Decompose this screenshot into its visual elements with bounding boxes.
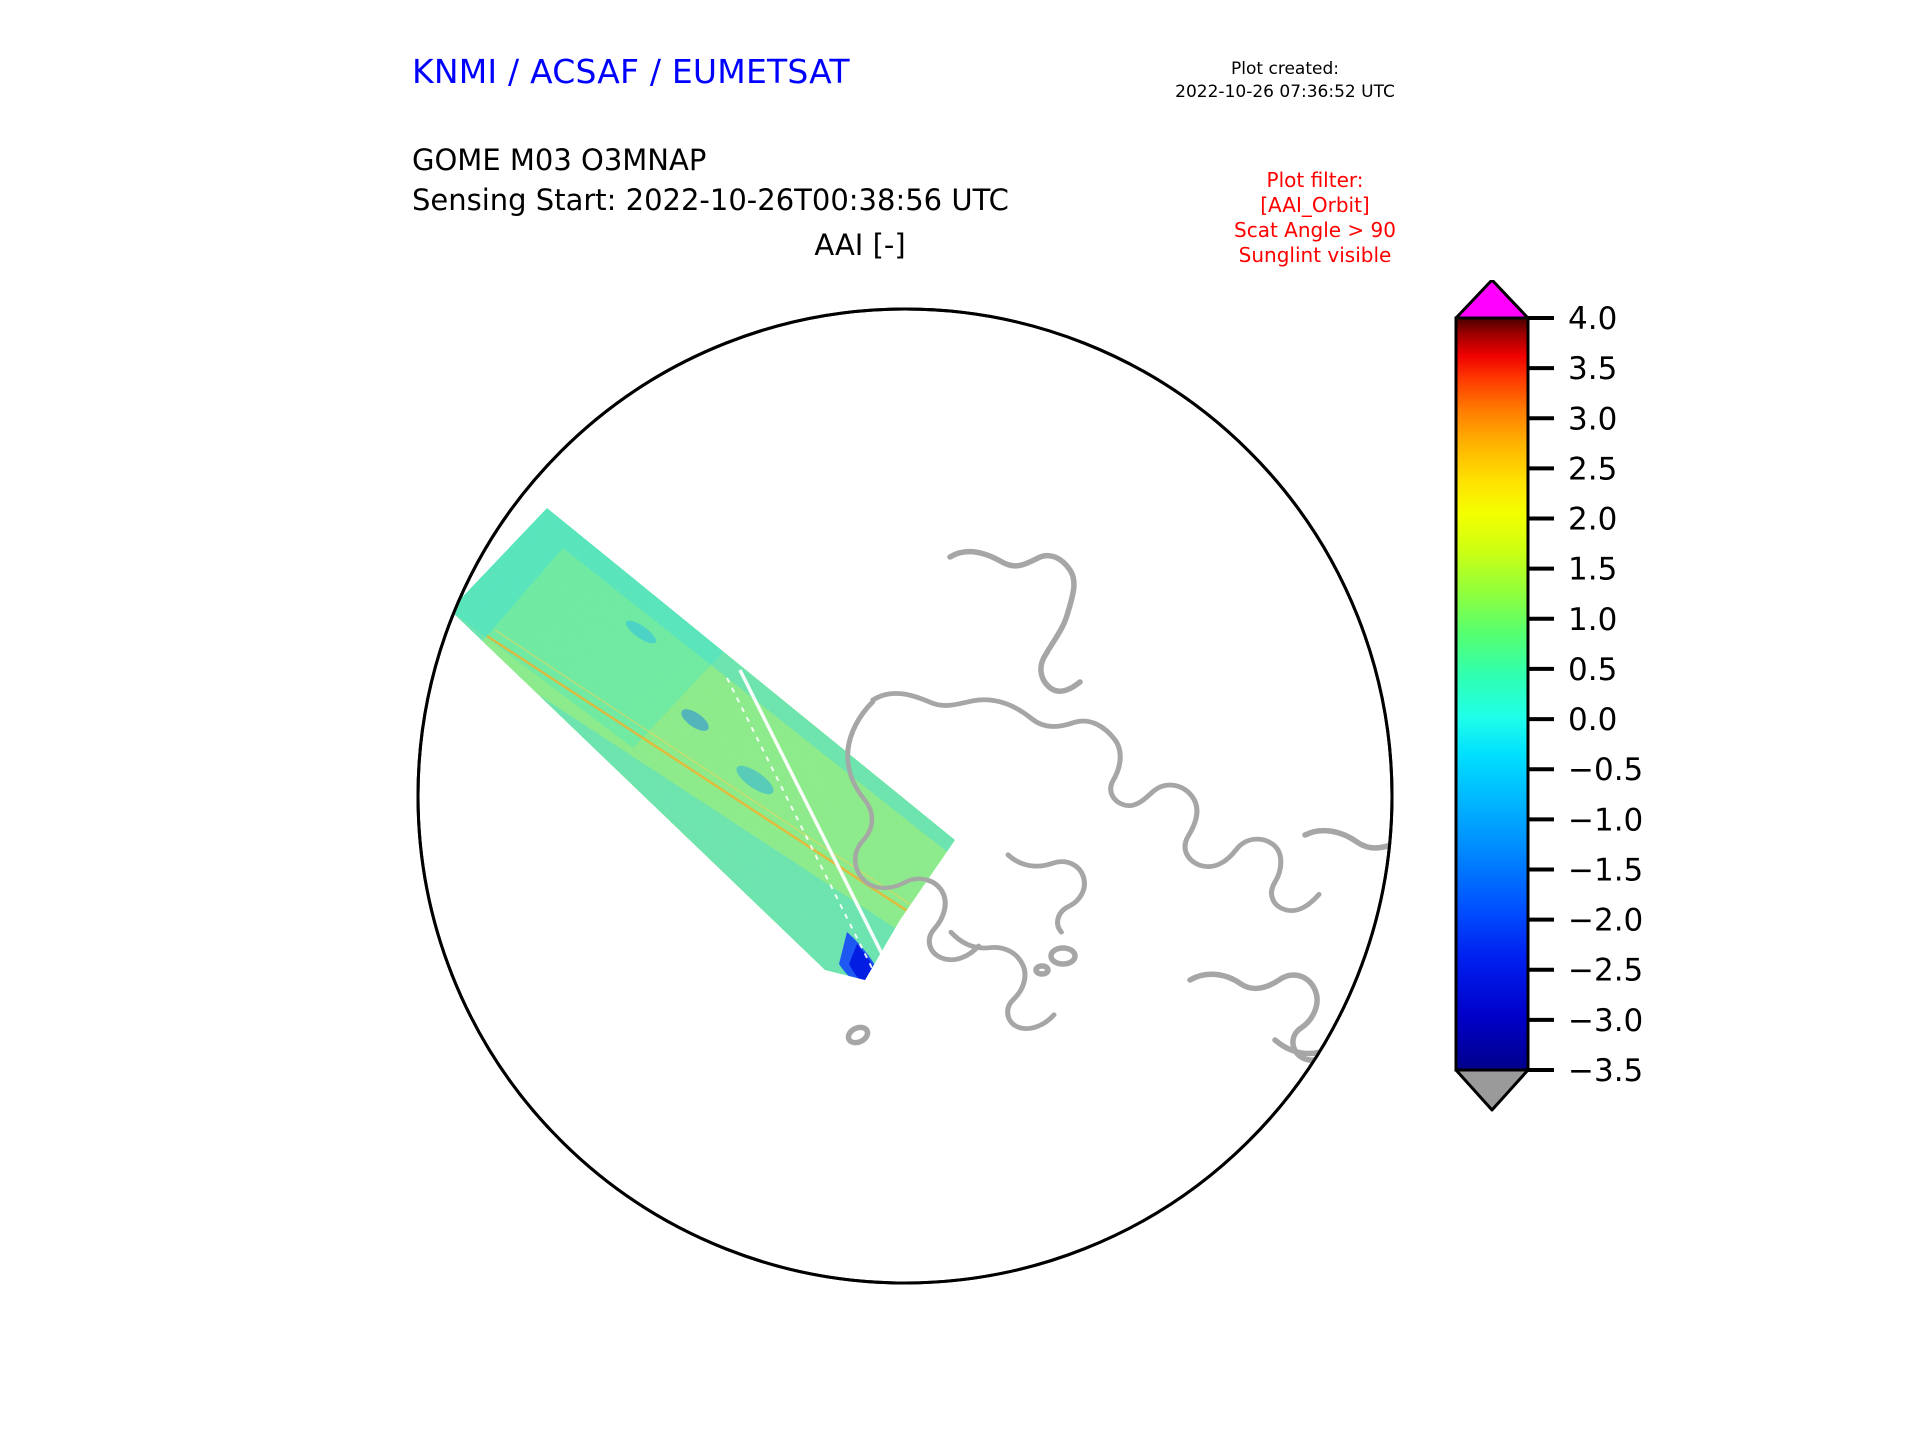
globe-orthographic-projection <box>395 280 1415 1310</box>
colorbar-tick-label: 3.5 <box>1568 351 1617 387</box>
colorbar-tick-label: −2.0 <box>1568 903 1643 939</box>
page-title: AAI [-] <box>814 228 905 262</box>
colorbar-ticks: 4.03.53.02.52.01.51.00.50.0−0.5−1.0−1.5−… <box>1528 301 1643 1089</box>
colorbar-tick-label: 3.0 <box>1568 401 1617 437</box>
plot-filter-scat-angle: Scat Angle > 90 <box>1190 218 1440 243</box>
colorbar-tick-label: 1.0 <box>1568 602 1617 638</box>
colorbar: 4.03.53.02.52.01.51.00.50.0−0.5−1.0−1.5−… <box>1434 280 1764 1310</box>
colorbar-tick-label: 1.5 <box>1568 552 1617 588</box>
colorbar-under-arrow <box>1456 1070 1528 1110</box>
colorbar-over-arrow <box>1456 280 1528 318</box>
colorbar-tick-label: −1.0 <box>1568 802 1643 838</box>
plot-filter-orbit: [AAI_Orbit] <box>1190 193 1440 218</box>
sensing-start: Sensing Start: 2022-10-26T00:38:56 UTC <box>412 180 1009 220</box>
plot-filter-block: Plot filter: [AAI_Orbit] Scat Angle > 90… <box>1190 168 1440 268</box>
colorbar-gradient <box>1456 318 1528 1070</box>
colorbar-tick-label: −1.5 <box>1568 852 1643 888</box>
plot-created-timestamp: 2022-10-26 07:36:52 UTC <box>1120 81 1450 104</box>
colorbar-tick-label: −2.5 <box>1568 953 1643 989</box>
colorbar-tick-label: −3.5 <box>1568 1053 1643 1089</box>
product-info-block: GOME M03 O3MNAP Sensing Start: 2022-10-2… <box>412 140 1009 220</box>
plot-created-label: Plot created: <box>1120 58 1450 81</box>
product-name: GOME M03 O3MNAP <box>412 140 1009 180</box>
colorbar-tick-label: 0.5 <box>1568 652 1617 688</box>
map-plot-area <box>395 280 1415 1310</box>
plot-filter-label: Plot filter: <box>1190 168 1440 193</box>
colorbar-tick-label: 2.5 <box>1568 451 1617 487</box>
colorbar-tick-label: −0.5 <box>1568 752 1643 788</box>
plot-created-block: Plot created: 2022-10-26 07:36:52 UTC <box>1120 58 1450 104</box>
globe-outline <box>418 309 1392 1283</box>
colorbar-tick-label: −3.0 <box>1568 1003 1643 1039</box>
colorbar-tick-label: 2.0 <box>1568 502 1617 538</box>
colorbar-tick-label: 4.0 <box>1568 301 1617 337</box>
colorbar-svg: 4.03.53.02.52.01.51.00.50.0−0.5−1.0−1.5−… <box>1434 280 1764 1310</box>
colorbar-tick-label: 0.0 <box>1568 702 1617 738</box>
plot-filter-sunglint: Sunglint visible <box>1190 243 1440 268</box>
organisation-title: KNMI / ACSAF / EUMETSAT <box>412 52 850 91</box>
